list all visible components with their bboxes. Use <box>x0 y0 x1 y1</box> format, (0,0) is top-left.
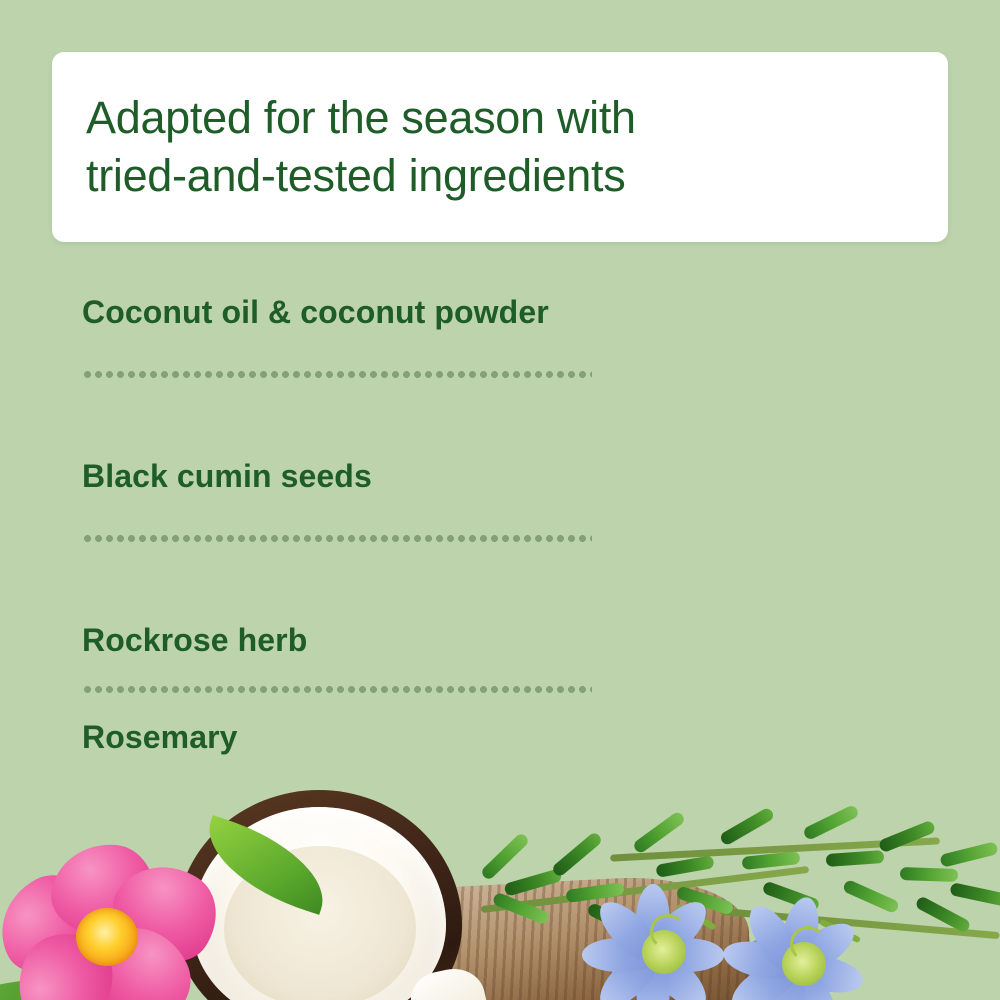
ingredient-label: Black cumin seeds <box>82 460 782 492</box>
list-item: Rosemary <box>82 721 782 753</box>
spacer <box>82 656 782 686</box>
page-title: Adapted for the season with tried-and-te… <box>52 89 676 204</box>
rosemary-needle <box>551 831 604 878</box>
rosemary-needle <box>826 850 885 867</box>
list-item: Black cumin seeds <box>82 460 782 492</box>
rosemary-needle <box>802 804 860 841</box>
ingredient-label: Coconut oil & coconut powder <box>82 296 782 328</box>
rosemary-needle <box>949 882 1000 907</box>
rosemary-needle <box>939 841 998 868</box>
spacer <box>82 492 782 535</box>
dotted-divider <box>82 686 592 693</box>
ingredient-imagery-band <box>0 770 1000 1000</box>
list-item: Coconut oil & coconut powder <box>82 296 782 328</box>
dotted-divider <box>82 371 592 378</box>
list-item: Rockrose herb <box>82 624 782 656</box>
dotted-divider <box>82 535 592 542</box>
ingredient-label: Rockrose herb <box>82 624 782 656</box>
rosemary-needle <box>719 806 776 846</box>
spacer <box>82 328 782 371</box>
ingredient-poster: Adapted for the season with tried-and-te… <box>0 0 1000 1000</box>
nigella-filament <box>790 926 826 962</box>
nigella-filament <box>650 914 686 950</box>
rosemary-needle <box>480 832 531 882</box>
ingredient-label: Rosemary <box>82 721 782 753</box>
headline-card: Adapted for the season with tried-and-te… <box>52 52 948 242</box>
rockrose-stamen <box>76 908 138 966</box>
nigella-flower-image <box>590 878 740 1000</box>
spacer <box>82 542 782 624</box>
rockrose-flower-image <box>0 826 240 1000</box>
rosemary-needle <box>632 810 687 855</box>
nigella-flower-image <box>730 890 880 1000</box>
rosemary-needle <box>900 867 958 882</box>
ingredient-list: Coconut oil & coconut powder Black cumin… <box>82 296 782 753</box>
rosemary-needle <box>878 820 937 854</box>
spacer <box>82 693 782 721</box>
spacer <box>82 378 782 460</box>
